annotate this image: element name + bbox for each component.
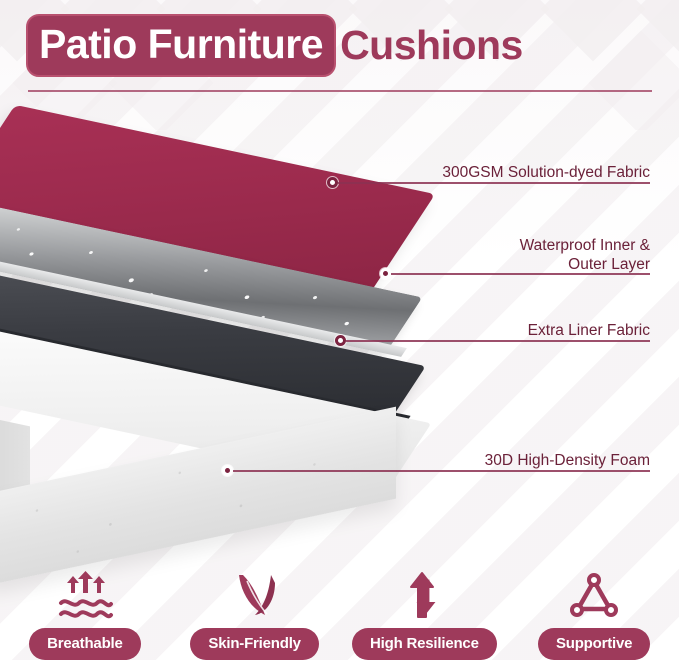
callout-dot-2 xyxy=(380,268,391,279)
callout-label-4: 30D High-Density Foam xyxy=(408,451,650,470)
title-plain-text: Cushions xyxy=(340,25,523,66)
callout-label-2-line2: Outer Layer xyxy=(408,255,650,274)
callout-leader-line-1 xyxy=(338,182,650,184)
feature-label-supportive: Supportive xyxy=(538,628,650,660)
infographic-page: Patio Furniture Cushions 300GSM Solution… xyxy=(0,0,679,660)
feature-label-breathable: Breathable xyxy=(29,628,141,660)
feature-label-skin-friendly: Skin-Friendly xyxy=(190,628,318,660)
feature-high-resilience[interactable]: High Resilience xyxy=(340,552,510,660)
triangle-nodes-icon xyxy=(567,570,621,622)
feather-icon xyxy=(225,570,285,622)
callout-dot-1 xyxy=(327,177,338,188)
callout-label-3: Extra Liner Fabric xyxy=(408,321,650,340)
callout-label-2-line1: Waterproof Inner & xyxy=(408,236,650,255)
callout-leader-line-3 xyxy=(346,340,650,342)
up-down-arrows-icon xyxy=(398,570,450,622)
airflow-waves-icon xyxy=(55,570,115,622)
feature-label-high-resilience: High Resilience xyxy=(352,628,497,660)
page-title: Patio Furniture Cushions xyxy=(26,14,523,77)
callout-dot-3 xyxy=(335,335,346,346)
callout-dot-4 xyxy=(222,465,233,476)
callout-leader-line-4 xyxy=(233,470,650,472)
feature-badge-row: Breathable Skin-Friendly High Resili xyxy=(0,552,679,660)
feature-breathable[interactable]: Breathable xyxy=(0,552,170,660)
title-underline-rule xyxy=(28,90,652,92)
header: Patio Furniture Cushions xyxy=(0,14,679,90)
feature-skin-friendly[interactable]: Skin-Friendly xyxy=(170,552,340,660)
title-badge-highlight: Patio Furniture xyxy=(26,14,336,77)
feature-supportive[interactable]: Supportive xyxy=(509,552,679,660)
callout-label-1: 300GSM Solution-dyed Fabric xyxy=(408,163,650,182)
